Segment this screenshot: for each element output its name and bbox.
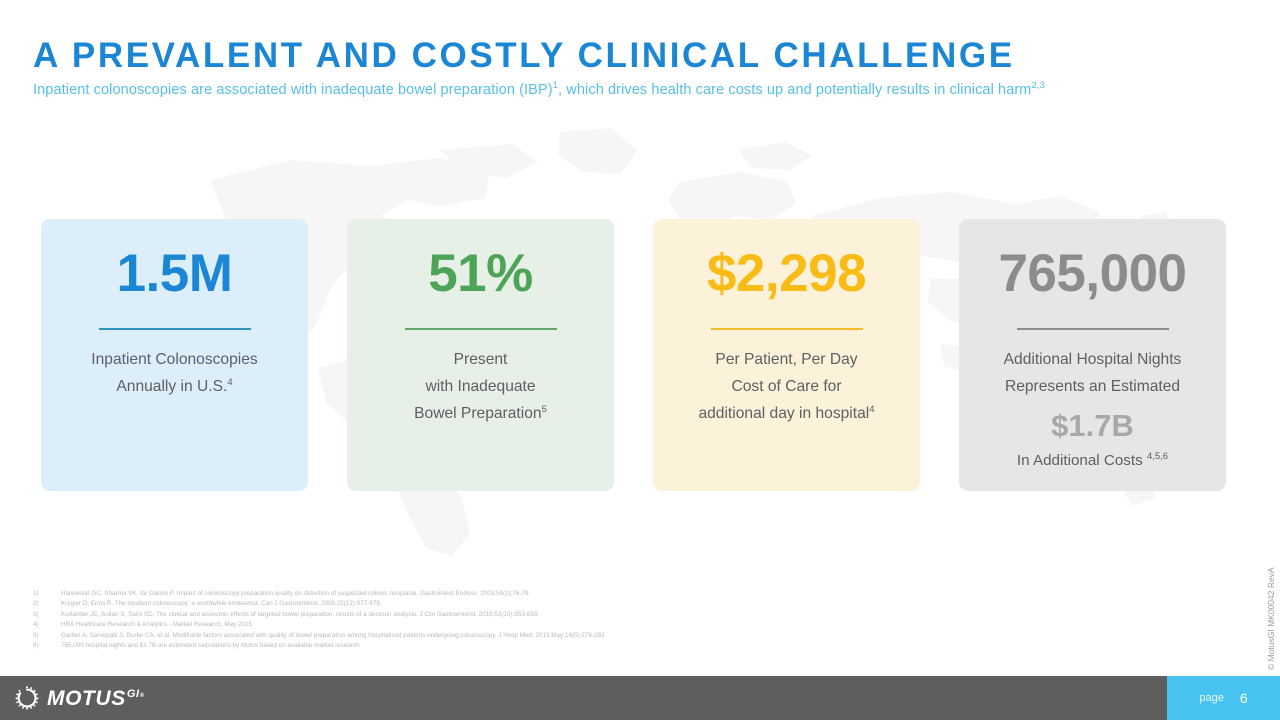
footnote-list: 1) Harewood GC, Sharma VK, de Garmo P. I…: [33, 589, 1033, 651]
stat-value: 1.5M: [41, 247, 308, 300]
stat-label: Inpatient Colonoscopies Annually in U.S.…: [41, 347, 308, 401]
subtitle-part-2: , which drives health care costs up and …: [558, 82, 1031, 98]
stat-label-superscript: 4: [227, 377, 232, 388]
footnote-item: 3) Kurlander JE, Sultan S, Saini SD. The…: [33, 610, 1033, 620]
stat-label-line-1: Additional Hospital Nights: [1004, 351, 1182, 368]
stat-label-line-2: Annually in U.S.: [116, 378, 227, 395]
page-title: A PREVALENT AND COSTLY CLINICAL CHALLENG…: [33, 38, 1015, 75]
secondary-stat-label: In Additional Costs 4,5,6: [959, 452, 1226, 469]
stat-card-additional-hospital-nights: 765,000 Additional Hospital Nights Repre…: [959, 219, 1226, 491]
page-number: 6: [1240, 690, 1248, 706]
stat-label: Present with Inadequate Bowel Preparatio…: [347, 347, 614, 427]
stat-label-line-2: with Inadequate: [425, 378, 535, 395]
stat-card-inpatient-colonoscopies: 1.5M Inpatient Colonoscopies Annually in…: [41, 219, 308, 491]
slide-root: A PREVALENT AND COSTLY CLINICAL CHALLENG…: [0, 0, 1280, 720]
footnote-text: Kurlander JE, Sultan S, Saini SD. The cl…: [61, 610, 1033, 620]
logo-registered-mark: ®: [140, 693, 145, 699]
footnote-text: 765,000 hospital nights and $1.7B are es…: [61, 641, 1033, 651]
footnote-item: 6) 765,000 hospital nights and $1.7B are…: [33, 641, 1033, 651]
footnote-item: 2) Krygier D, Enns R. The inpatient colo…: [33, 599, 1033, 609]
footnote-text: Harewood GC, Sharma VK, de Garmo P. Impa…: [61, 589, 1033, 599]
footnote-item: 5) Garber A, Sarvepalli S, Burke CA, et …: [33, 631, 1033, 641]
logo-gi-text: GI: [127, 688, 140, 700]
page-subtitle: Inpatient colonoscopies are associated w…: [33, 82, 1045, 98]
subtitle-part-1: Inpatient colonoscopies are associated w…: [33, 82, 553, 98]
stat-label-superscript: 5: [542, 403, 547, 414]
stat-card-inadequate-bowel-prep: 51% Present with Inadequate Bowel Prepar…: [347, 219, 614, 491]
footnote-text: Krygier D, Enns R. The inpatient colonos…: [61, 599, 1033, 609]
stat-value: 765,000: [959, 247, 1226, 300]
footnote-number: 1): [33, 589, 61, 599]
page-number-block: page 6: [1167, 676, 1280, 720]
secondary-stat-label-text: In Additional Costs: [1017, 452, 1147, 469]
stat-label: Additional Hospital Nights Represents an…: [959, 347, 1226, 401]
secondary-stat-value: $1.7B: [959, 410, 1226, 441]
stat-cards-row: 1.5M Inpatient Colonoscopies Annually in…: [0, 219, 1280, 491]
stat-label-line-3: additional day in hospital: [698, 405, 869, 422]
stat-label-line-1: Per Patient, Per Day: [715, 351, 857, 368]
footnote-number: 4): [33, 620, 61, 630]
stat-value: 51%: [347, 247, 614, 300]
stat-label: Per Patient, Per Day Cost of Care for ad…: [653, 347, 920, 427]
stat-label-line-1: Inpatient Colonoscopies: [91, 351, 257, 368]
card-divider: [99, 328, 251, 330]
stat-label-line-2: Cost of Care for: [731, 378, 841, 395]
card-divider: [711, 328, 863, 330]
stat-label-line-2: Represents an Estimated: [1005, 378, 1180, 395]
footnote-item: 4) HRA Healthcare Research & Analytics -…: [33, 620, 1033, 630]
footnote-number: 5): [33, 631, 61, 641]
subtitle-superscript-2: 2,3: [1031, 80, 1045, 91]
footnote-number: 3): [33, 610, 61, 620]
secondary-stat-superscript: 4,5,6: [1147, 451, 1168, 462]
footnote-item: 1) Harewood GC, Sharma VK, de Garmo P. I…: [33, 589, 1033, 599]
footnote-text: HRA Healthcare Research & Analytics - Ma…: [61, 620, 1033, 630]
footer-bar: [0, 676, 1280, 720]
motus-gi-logo: MOTUSGI®: [14, 683, 145, 713]
stat-value: $2,298: [653, 247, 920, 300]
logo-word-text: MOTUS: [47, 687, 126, 710]
card-divider: [1017, 328, 1169, 330]
page-label: page: [1199, 692, 1223, 704]
stat-label-line-1: Present: [454, 351, 508, 368]
footnote-text: Garber A, Sarvepalli S, Burke CA, et al.…: [61, 631, 1033, 641]
stat-label-superscript: 4: [869, 403, 874, 414]
footnote-number: 6): [33, 641, 61, 651]
logo-wordmark: MOTUSGI®: [47, 688, 145, 709]
card-divider: [405, 328, 557, 330]
stat-card-cost-per-patient-day: $2,298 Per Patient, Per Day Cost of Care…: [653, 219, 920, 491]
copyright-vertical-text: © MotusGI MK00042 RevA: [1266, 540, 1276, 670]
dotted-ring-icon: [14, 685, 40, 711]
stat-label-line-3: Bowel Preparation: [414, 405, 541, 422]
footnote-number: 2): [33, 599, 61, 609]
